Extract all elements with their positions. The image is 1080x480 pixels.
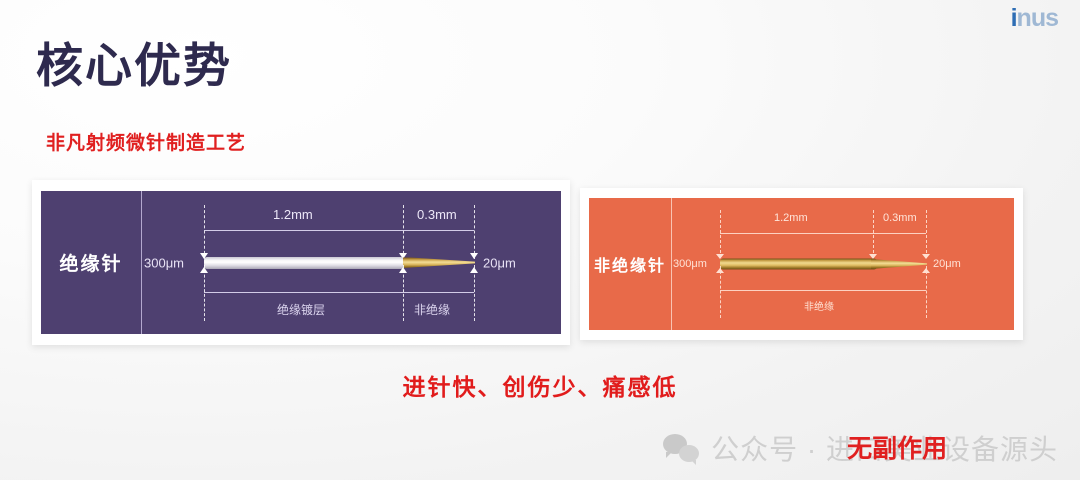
tagline: 进针快、创伤少、痛感低 — [0, 368, 1080, 402]
logo-letters-nus: nus — [1017, 4, 1058, 32]
dimension-line-1 — [720, 233, 873, 234]
guide-mid — [873, 210, 874, 258]
insulated-needle-card: 绝缘针 1.2mm 0.3mm 300μm 20μm — [32, 180, 570, 345]
guide-left — [204, 205, 205, 259]
guide-mid — [403, 205, 404, 259]
bottom-line-1 — [720, 290, 926, 291]
insulated-needle-label: 绝缘针 — [41, 191, 141, 334]
left-end-label: 300μm — [673, 258, 707, 270]
non-insulated-needle-diagram: 1.2mm 0.3mm 300μm 20μm 非绝缘 — [671, 198, 1014, 330]
bottom-line-2 — [403, 292, 474, 293]
guide-right — [926, 210, 927, 258]
guide-left — [720, 210, 721, 258]
guide-mid-bottom — [403, 265, 404, 321]
needle-tip-gold — [403, 257, 475, 268]
dimension-line-1 — [204, 230, 403, 231]
watermark-text-wrap: 公众号 · 进口美业设备源头 无副作用 — [711, 428, 1058, 468]
measure-label-2: 0.3mm — [883, 212, 917, 224]
guide-left-bottom — [720, 266, 721, 318]
bottom-label-1: 非绝缘 — [804, 298, 834, 313]
guide-left-bottom — [204, 265, 205, 321]
bottom-label-1: 绝缘镀层 — [277, 301, 325, 318]
non-insulated-needle-panel: 非绝缘针 1.2mm 0.3mm 300μm 20μm — [589, 198, 1014, 330]
insulated-needle-diagram: 1.2mm 0.3mm 300μm 20μm 绝缘镀层 非绝缘 — [141, 191, 561, 334]
guide-right-bottom — [926, 266, 927, 318]
left-end-label: 300μm — [144, 255, 184, 270]
page-title: 核心优势 — [36, 42, 232, 89]
insulated-needle-panel: 绝缘针 1.2mm 0.3mm 300μm 20μm — [41, 191, 561, 334]
wechat-watermark: 公众号 · 进口美业设备源头 无副作用 — [663, 428, 1058, 468]
bottom-line-1 — [204, 292, 403, 293]
measure-label-1: 1.2mm — [273, 207, 313, 222]
guide-right-bottom — [474, 265, 475, 321]
arrow-down-right — [470, 253, 478, 259]
dimension-line-2 — [873, 233, 926, 234]
page-subtitle: 非凡射频微针制造工艺 — [46, 134, 246, 153]
right-end-label: 20μm — [483, 255, 516, 270]
non-insulated-needle-card: 非绝缘针 1.2mm 0.3mm 300μm 20μm — [580, 188, 1023, 340]
needle-shaft-insulated — [204, 257, 404, 269]
bottom-label-2: 非绝缘 — [414, 301, 450, 318]
watermark-overlay-text: 无副作用 — [847, 429, 947, 465]
wechat-icon — [663, 434, 699, 462]
needle-tip-gold — [871, 259, 927, 269]
brand-logo: inus — [1011, 6, 1058, 31]
measure-label-1: 1.2mm — [774, 212, 808, 224]
right-end-label: 20μm — [933, 258, 961, 270]
needle-shaft-gold — [720, 259, 877, 270]
guide-right — [474, 205, 475, 259]
non-insulated-needle-label: 非绝缘针 — [589, 198, 671, 330]
arrow-down-right — [922, 254, 930, 259]
dimension-line-2 — [403, 230, 474, 231]
measure-label-2: 0.3mm — [417, 207, 457, 222]
